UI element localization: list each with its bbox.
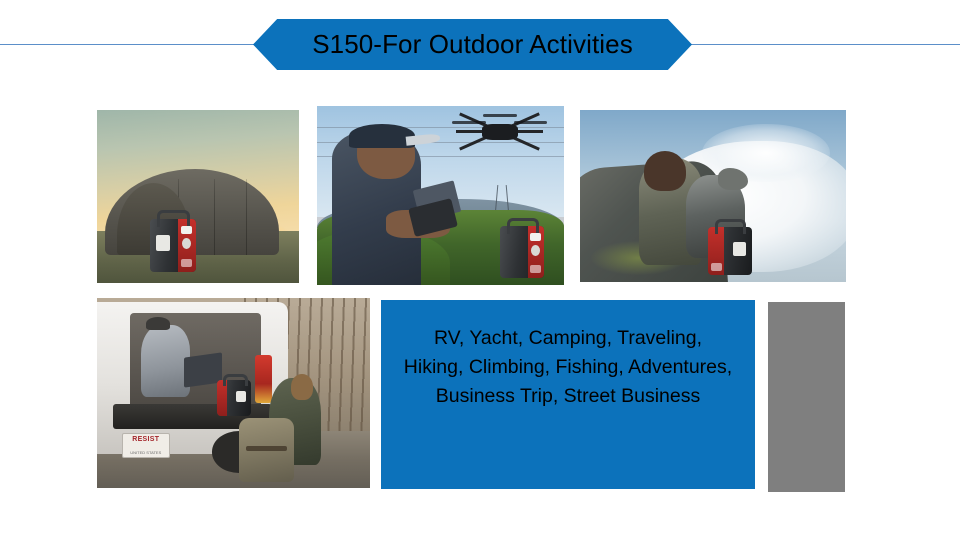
suv-scene: RESIST UNITED STATES bbox=[97, 298, 370, 488]
photo-drone-operator bbox=[317, 106, 564, 285]
power-station-display bbox=[156, 235, 170, 251]
tent-rib bbox=[214, 179, 215, 255]
power-station-buttons bbox=[711, 263, 722, 271]
power-station-handle bbox=[223, 374, 249, 386]
power-station-buttons bbox=[181, 259, 192, 268]
drone-aircraft-icon bbox=[450, 111, 549, 150]
hiker-hair bbox=[644, 151, 686, 191]
power-station-buttons bbox=[530, 265, 541, 273]
license-plate-text: RESIST bbox=[123, 436, 169, 443]
title-banner: S150-For Outdoor Activities bbox=[253, 19, 692, 70]
power-station-handle bbox=[715, 219, 747, 234]
tent-scene bbox=[97, 110, 299, 283]
drone-body bbox=[482, 124, 518, 140]
power-station-display bbox=[733, 242, 746, 257]
backpack bbox=[239, 418, 294, 483]
drone-propeller bbox=[452, 121, 486, 124]
license-plate-subtext: UNITED STATES bbox=[123, 450, 169, 455]
photo-camping-tent bbox=[97, 110, 299, 283]
power-station-unit bbox=[150, 210, 196, 272]
power-station-unit bbox=[217, 374, 251, 416]
drone-propeller bbox=[483, 114, 517, 117]
tail-light bbox=[255, 355, 271, 403]
husky-dog-head bbox=[718, 168, 748, 190]
photo-mountain-hiker-dog bbox=[580, 110, 846, 282]
power-station-handle bbox=[157, 210, 190, 227]
backpack-strap bbox=[246, 446, 287, 451]
photo-suv-tailgate: RESIST UNITED STATES bbox=[97, 298, 370, 488]
license-plate: RESIST UNITED STATES bbox=[122, 433, 170, 458]
gray-placeholder-block bbox=[768, 302, 845, 492]
slide-canvas: S150-For Outdoor Activities bbox=[0, 0, 960, 550]
beanie-hat bbox=[146, 317, 170, 330]
power-station-unit bbox=[500, 218, 544, 278]
drone-scene bbox=[317, 106, 564, 285]
use-cases-panel: RV, Yacht, Camping, Traveling, Hiking, C… bbox=[381, 300, 755, 489]
power-station-unit bbox=[708, 219, 752, 275]
woman-with-laptop bbox=[141, 325, 190, 397]
power-station-display bbox=[236, 391, 246, 402]
drone-propeller bbox=[514, 121, 548, 124]
power-station-handle bbox=[507, 218, 539, 234]
power-station-lamp bbox=[181, 226, 192, 233]
power-station-lamp bbox=[530, 233, 541, 240]
braided-hair bbox=[291, 374, 313, 400]
power-station-socket-icon bbox=[531, 245, 540, 256]
mountain-scene bbox=[580, 110, 846, 282]
use-cases-text: RV, Yacht, Camping, Traveling, Hiking, C… bbox=[403, 324, 733, 411]
page-title: S150-For Outdoor Activities bbox=[312, 31, 633, 59]
